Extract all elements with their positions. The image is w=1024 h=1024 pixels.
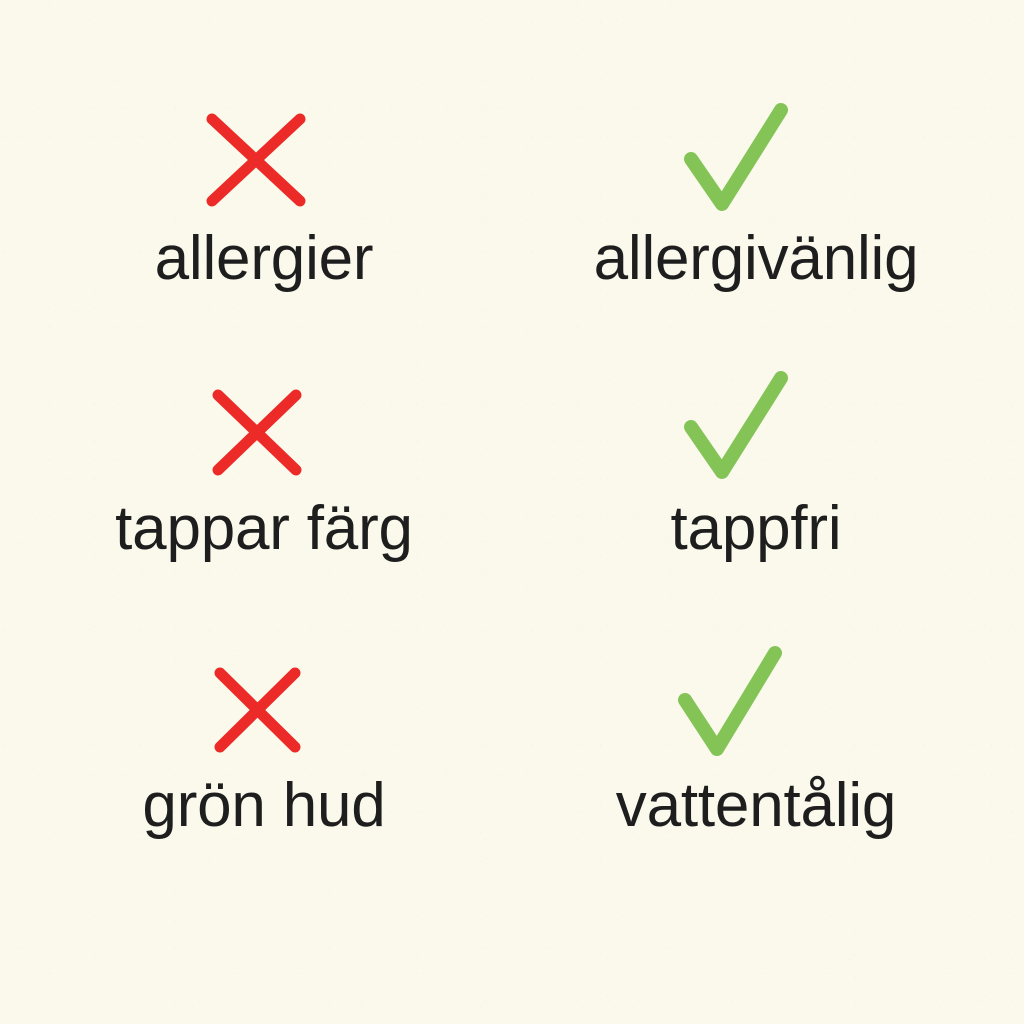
comparison-cell-negative-2: tappar färg bbox=[0, 300, 512, 572]
cross-icon bbox=[196, 100, 316, 220]
check-icon bbox=[677, 100, 797, 220]
cross-icon bbox=[196, 373, 316, 493]
comparison-label-negative-1: allergier bbox=[8, 228, 520, 290]
comparison-label-positive-1: allergivänlig bbox=[500, 228, 1012, 290]
comparison-cell-positive-2: tappfri bbox=[512, 300, 1024, 572]
comparison-cell-positive-1: allergivänlig bbox=[512, 0, 1024, 300]
comparison-cell-positive-3: vattentålig bbox=[512, 572, 1024, 850]
comparison-grid: allergier allergivänlig tappar färg bbox=[0, 0, 1024, 900]
comparison-label-positive-2: tappfri bbox=[500, 498, 1012, 560]
cross-icon bbox=[196, 650, 316, 770]
comparison-cell-negative-3: grön hud bbox=[0, 572, 512, 850]
comparison-label-negative-2: tappar färg bbox=[8, 498, 520, 560]
check-icon bbox=[677, 368, 797, 488]
comparison-label-positive-3: vattentålig bbox=[500, 775, 1012, 837]
comparison-cell-negative-1: allergier bbox=[0, 0, 512, 300]
check-icon bbox=[677, 645, 797, 765]
comparison-label-negative-3: grön hud bbox=[8, 775, 520, 837]
